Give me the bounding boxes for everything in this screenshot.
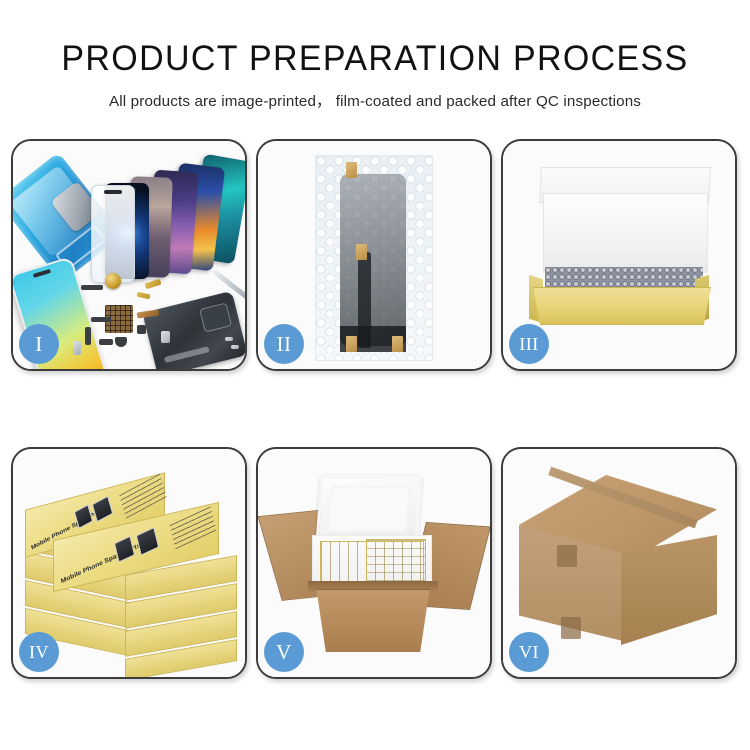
product-preparation-infographic: PRODUCT PREPARATION PROCESS All products… (0, 0, 750, 750)
box-window-front-2 (136, 527, 159, 556)
part-sim-tray-icon (73, 341, 81, 355)
header: PRODUCT PREPARATION PROCESS All products… (0, 0, 750, 111)
part-camera-icon (161, 331, 170, 343)
step-panel-3: III (501, 139, 737, 371)
page-title: PRODUCT PREPARATION PROCESS (11, 0, 739, 78)
step-badge-1: I (19, 324, 59, 364)
inner-boxes-stack-icon (366, 539, 426, 585)
carton-notch-top-icon (557, 545, 577, 567)
display-notch-icon (33, 269, 51, 278)
step-badge-3: III (509, 324, 549, 364)
box-spec-lines-back (119, 474, 166, 519)
tape-mid-icon (356, 244, 367, 260)
bubble-wrap-bag-icon (315, 155, 433, 361)
part-vertical-icon (85, 327, 91, 345)
step-badge-2: II (264, 324, 304, 364)
foam-box-lid-icon (316, 475, 423, 543)
sealed-carton-right-face-icon (621, 535, 717, 645)
step-panel-6: VI (501, 447, 737, 679)
tape-bottom-right-icon (392, 336, 403, 352)
part-gold-connector-icon (137, 292, 151, 300)
wrapped-screen-icon (340, 174, 406, 346)
phone-fan-group (91, 155, 245, 285)
glass-notch-icon (104, 190, 122, 194)
part-screw-a-icon (225, 337, 233, 341)
kraft-box-front-icon (533, 287, 711, 325)
process-steps-grid: I II (11, 139, 741, 679)
tape-bottom-left-icon (346, 336, 357, 352)
part-small-icon (99, 339, 113, 345)
box-window-back-2 (92, 496, 114, 523)
step-badge-5: V (264, 632, 304, 672)
part-screw-b-icon (231, 345, 239, 349)
step-badge-6: VI (509, 632, 549, 672)
page-subtitle: All products are image-printed， film-coa… (0, 78, 750, 111)
box-window-back-1 (74, 504, 93, 529)
phone-back-housing-icon (142, 291, 245, 369)
step-panel-5: V (256, 447, 492, 679)
part-speaker-icon (115, 337, 127, 347)
carton-front-icon (314, 589, 432, 652)
step-badge-4: IV (19, 632, 59, 672)
step-panel-2: II (256, 139, 492, 371)
foam-liner-icon (543, 193, 708, 273)
tape-top-icon (346, 162, 357, 178)
carton-notch-bottom-icon (561, 617, 581, 639)
part-strip-icon (81, 285, 103, 290)
box-window-front-1 (114, 536, 135, 563)
vibration-motor-icon (105, 273, 121, 289)
step-panel-4: Mobile Phone Spare Parts Mobile Phone Sp… (11, 447, 247, 679)
part-ic-icon (137, 325, 146, 334)
box-spec-lines-front (170, 506, 217, 549)
step-panel-1: I (11, 139, 247, 371)
part-bar-icon (91, 317, 111, 322)
tempered-glass-icon (91, 185, 135, 283)
